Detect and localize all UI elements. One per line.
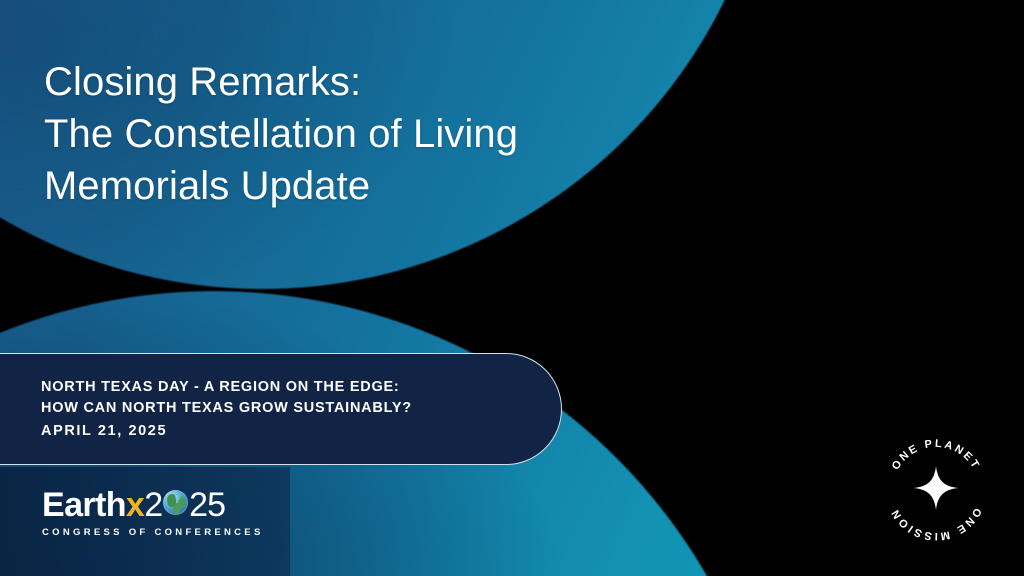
- four-point-star-icon: [914, 466, 958, 510]
- page-title: Closing Remarks: The Constellation of Li…: [44, 56, 684, 212]
- session-info-pill: NORTH TEXAS DAY - A REGION ON THE EDGE: …: [0, 353, 562, 465]
- logo-text-earth: Earth: [42, 487, 126, 523]
- session-title-line-1: NORTH TEXAS DAY - A REGION ON THE EDGE:: [41, 377, 561, 398]
- globe-icon: [163, 490, 188, 515]
- one-planet-one-mission-badge: ONE PLANET ONE MISSION: [874, 428, 998, 552]
- badge-bottom-text: ONE MISSION: [888, 506, 983, 543]
- session-date: APRIL 21, 2025: [41, 421, 561, 442]
- badge-bottom-textpath: ONE MISSION: [888, 506, 983, 543]
- logo-year-suffix: 25: [189, 487, 225, 523]
- presentation-slide: Closing Remarks: The Constellation of Li…: [0, 0, 1024, 576]
- earthx-logo: Earthx225 CONGRESS OF CONFERENCES: [42, 487, 272, 538]
- earthx-logo-wordmark: Earthx225: [42, 487, 272, 523]
- logo-tagline: CONGRESS OF CONFERENCES: [42, 527, 272, 538]
- logo-year-prefix: 2: [144, 487, 162, 523]
- session-title-line-2: HOW CAN NORTH TEXAS GROW SUSTAINABLY?: [41, 398, 561, 419]
- logo-text-x: x: [126, 487, 144, 523]
